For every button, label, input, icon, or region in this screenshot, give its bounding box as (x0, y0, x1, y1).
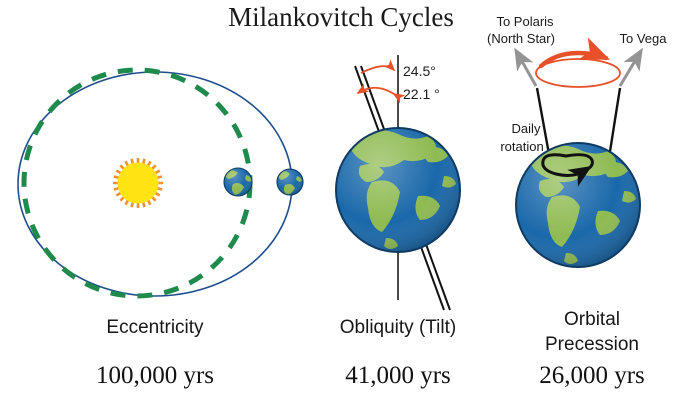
panel-period-obliquity: 41,000 yrs (345, 362, 451, 389)
earth-globe-icon (224, 168, 252, 196)
sun-icon (113, 158, 163, 208)
angle-arc-245 (361, 66, 394, 73)
vega-direction-arrow (620, 56, 638, 86)
page-title: Milankovitch Cycles (228, 2, 454, 32)
angle-label-obliquity-max: 24.5° (403, 63, 436, 79)
milankovitch-cycles-figure: Milankovitch Cycles (0, 0, 682, 406)
earth-globe-icon (336, 128, 460, 252)
earth-globe-icon (516, 143, 640, 267)
panel-eccentricity: Eccentricity 100,000 yrs (18, 70, 303, 389)
panel-period-precession: 26,000 yrs (539, 362, 645, 389)
daily-rotation-label-line2: rotation (500, 139, 543, 154)
diagram-canvas: Milankovitch Cycles (0, 0, 682, 406)
panel-period-eccentricity: 100,000 yrs (96, 362, 214, 389)
panel-obliquity: 24.5° 22.1 ° Obliquity (Tilt) 41,000 yrs (336, 55, 460, 389)
polaris-label-line1: To Polaris (496, 14, 554, 29)
vega-label: To Vega (620, 31, 668, 46)
angle-label-obliquity-min: 22.1 ° (403, 86, 440, 102)
panel-label-obliquity: Obliquity (Tilt) (340, 317, 456, 338)
panel-label-eccentricity: Eccentricity (106, 317, 204, 338)
panel-precession: To Polaris (North Star) To Vega Daily ro… (487, 14, 667, 389)
polaris-label-line2: (North Star) (487, 31, 555, 46)
panel-label-precession-line2: Precession (545, 334, 639, 355)
earth-globe-icon (277, 169, 303, 195)
panel-label-precession-line1: Orbital (564, 309, 620, 330)
daily-rotation-label-line1: Daily (512, 121, 541, 136)
precession-path-ellipse (536, 59, 620, 87)
polaris-direction-arrow (519, 56, 536, 86)
